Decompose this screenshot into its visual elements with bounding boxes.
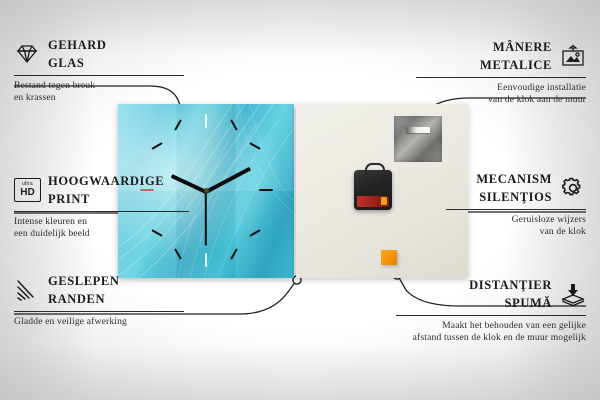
callout-title: GESLEPEN RANDEN	[48, 272, 120, 308]
callout-description-line2: een duidelijk beeld	[14, 228, 189, 240]
callout-description-line1: Gladde en veilige afwerking	[14, 316, 184, 328]
callout-header: GESLEPEN RANDEN	[14, 272, 184, 308]
battery-terminal	[381, 197, 387, 205]
clock-mechanism	[354, 170, 392, 210]
clock-back-panel	[296, 104, 468, 278]
callout-hoogwaardige-print: ultra HD HOOGWAARDIGE PRINT Intense kleu…	[14, 172, 189, 240]
callout-distantier-spuma: DISTANŢIER SPUMĂ Maakt het behouden van …	[396, 276, 586, 344]
callout-description-line2: en krassen	[14, 92, 184, 104]
hanger-slot	[406, 127, 430, 133]
callout-divider	[446, 209, 586, 210]
callout-mecanism-silentios: MECANISM SILENŢIOS Geruisloze wijzers va…	[446, 170, 586, 238]
callout-description-line1: Geruisloze wijzers	[446, 214, 586, 226]
callout-header: DISTANŢIER SPUMĂ	[396, 276, 586, 312]
battery	[357, 196, 389, 207]
infographic-canvas: GEHARD GLAS Bestand tegen breuk en krass…	[0, 0, 600, 400]
beveled-edges-icon	[14, 278, 40, 302]
clock-second-hand	[205, 192, 207, 246]
callout-header: GEHARD GLAS	[14, 36, 184, 72]
mechanism-hanging-loop	[365, 163, 385, 175]
metal-hanger-plate	[394, 116, 442, 162]
clock-tick	[205, 253, 207, 267]
wall-hanging-frame-icon	[560, 44, 586, 68]
callout-manere-metalice: MÂNERE METALICE Eenvoudige installatie v…	[416, 38, 586, 106]
gear-icon	[560, 176, 586, 200]
callout-description-line1: Eenvoudige installatie	[416, 82, 586, 94]
callout-description-line1: Bestand tegen breuk	[14, 80, 184, 92]
foam-spacer	[381, 250, 397, 265]
callout-description-line2: van de klok aan de muur	[416, 94, 586, 106]
callout-divider	[14, 75, 184, 76]
callout-header: MECANISM SILENŢIOS	[446, 170, 586, 206]
callout-gehard-glas: GEHARD GLAS Bestand tegen breuk en krass…	[14, 36, 184, 104]
ultra-hd-icon: ultra HD	[14, 178, 40, 202]
callout-description-line2: van de klok	[446, 226, 586, 238]
callout-divider	[14, 311, 184, 312]
foam-spacer-icon	[560, 282, 586, 306]
callout-title: DISTANŢIER SPUMĂ	[469, 276, 552, 312]
callout-header: ultra HD HOOGWAARDIGE PRINT	[14, 172, 189, 208]
callout-description-line2: afstand tussen de klok en de muur mogeli…	[396, 332, 586, 344]
callout-divider	[416, 77, 586, 78]
callout-divider	[14, 211, 189, 212]
callout-title: GEHARD GLAS	[48, 36, 106, 72]
clock-tick	[205, 114, 207, 128]
callout-title: MÂNERE METALICE	[480, 38, 552, 74]
callout-description-line1: Intense kleuren en	[14, 216, 189, 228]
clock-center-hub	[204, 188, 209, 193]
callout-geslepen-randen: GESLEPEN RANDEN Gladde en veilige afwerk…	[14, 272, 184, 328]
callout-description-line1: Maakt het behouden van een gelijke	[396, 320, 586, 332]
callout-title: HOOGWAARDIGE PRINT	[48, 172, 164, 208]
diamond-icon	[14, 42, 40, 66]
callout-divider	[396, 315, 586, 316]
callout-title: MECANISM SILENŢIOS	[476, 170, 552, 206]
callout-header: MÂNERE METALICE	[416, 38, 586, 74]
